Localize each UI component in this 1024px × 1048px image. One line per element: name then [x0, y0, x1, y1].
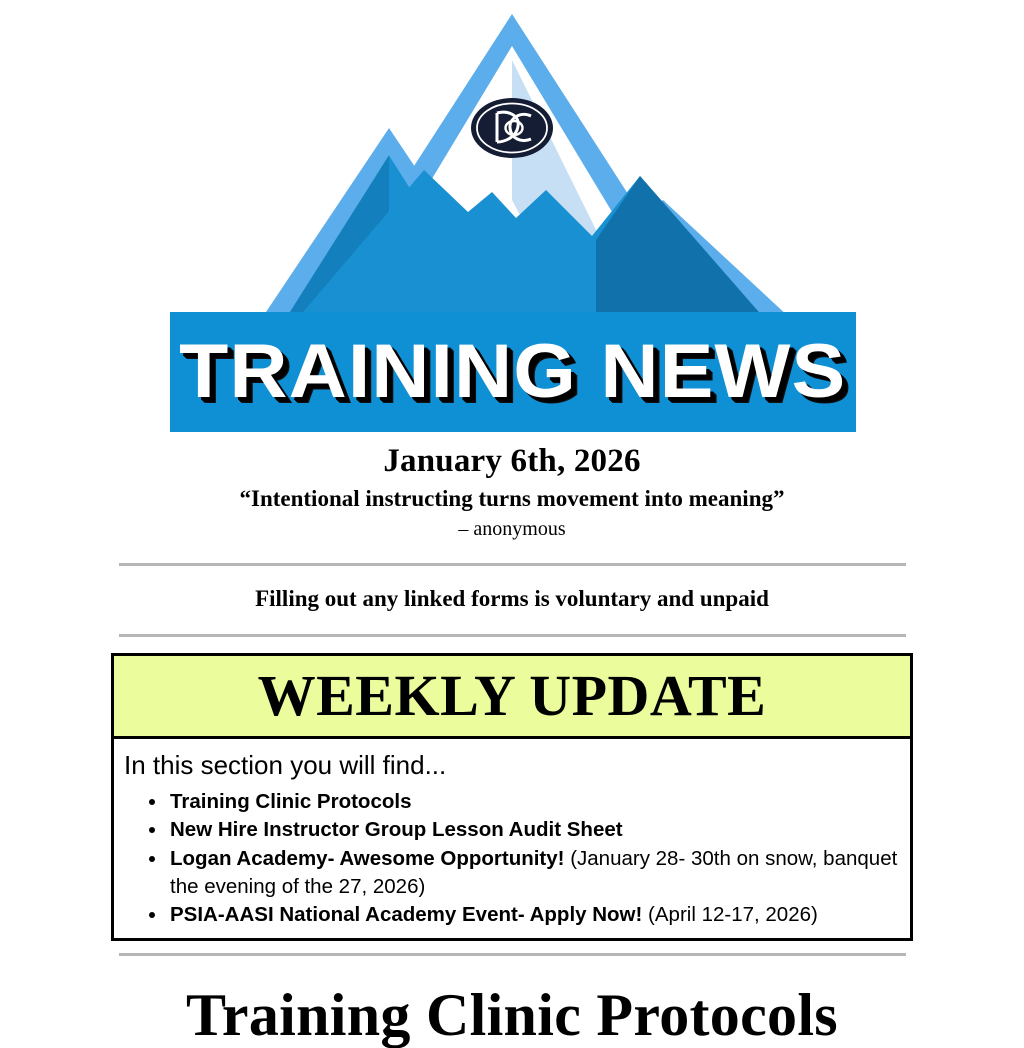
list-item-title: PSIA-AASI National Academy Event- Apply … — [170, 903, 642, 926]
issue-date: January 6th, 2026 — [0, 442, 1024, 481]
mountain-logo — [0, 0, 1024, 432]
weekly-update-header-text: WEEKLY UPDATE — [258, 667, 767, 725]
weekly-update-box: WEEKLY UPDATE In this section you will f… — [111, 653, 913, 941]
list-item[interactable]: New Hire Instructor Group Lesson Audit S… — [168, 816, 900, 844]
masthead-text: January 6th, 2026 “Intentional instructi… — [0, 442, 1024, 541]
list-item-title: Logan Academy- Awesome Opportunity! — [170, 847, 565, 870]
issue-quote-attribution: – anonymous — [0, 517, 1024, 541]
weekly-update-list: Training Clinic Protocols New Hire Instr… — [122, 788, 900, 929]
divider-rule-top — [119, 563, 906, 566]
list-item[interactable]: Logan Academy- Awesome Opportunity! (Jan… — [168, 845, 900, 900]
weekly-update-intro: In this section you will find... — [124, 749, 900, 782]
divider-rule-middle — [119, 634, 906, 637]
divider-rule-bottom — [119, 953, 906, 956]
section-heading: Training Clinic Protocols — [0, 982, 1024, 1048]
forms-notice: Filling out any linked forms is voluntar… — [0, 585, 1024, 613]
emblem-icon — [471, 98, 553, 158]
list-item-title: Training Clinic Protocols — [170, 790, 411, 813]
list-item[interactable]: PSIA-AASI National Academy Event- Apply … — [168, 901, 900, 929]
list-item[interactable]: Training Clinic Protocols — [168, 788, 900, 816]
masthead-hero: TRAINING NEWS — [0, 0, 1024, 432]
weekly-update-body: In this section you will find... Trainin… — [111, 739, 913, 941]
list-item-detail: (April 12-17, 2026) — [642, 903, 817, 926]
list-item-title: New Hire Instructor Group Lesson Audit S… — [170, 818, 623, 841]
issue-quote: “Intentional instructing turns movement … — [0, 485, 1024, 514]
weekly-update-header: WEEKLY UPDATE — [111, 653, 913, 739]
